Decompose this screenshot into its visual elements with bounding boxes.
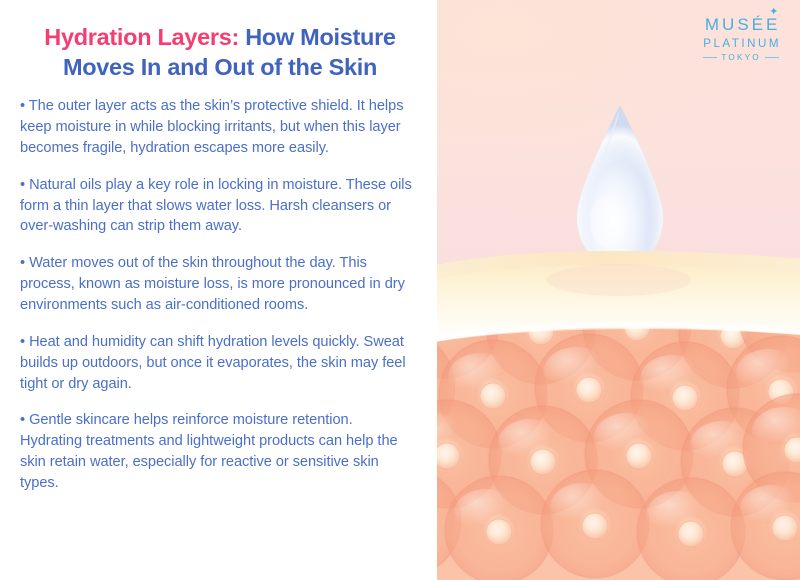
title-accent: Hydration Layers: <box>44 24 239 50</box>
infographic-canvas: ✦ MUSÉE PLATINUM TOKYO Hydration Layers:… <box>0 0 800 580</box>
bullet-paragraph: • The outer layer acts as the skin’s pro… <box>20 96 418 159</box>
logo-tokyo-row: TOKYO <box>701 54 781 62</box>
sparkle-icon: ✦ <box>769 7 778 18</box>
logo-mark: ✦ MUSÉE <box>702 16 780 33</box>
body-copy: • The outer layer acts as the skin’s pro… <box>20 96 420 494</box>
bullet-paragraph: • Gentle skincare helps reinforce moistu… <box>20 410 418 493</box>
logo-musee-text: MUSÉE <box>702 16 780 33</box>
page-title: Hydration Layers: How Moisture Moves In … <box>20 22 420 82</box>
logo-rule-right <box>765 57 779 58</box>
illustration-panel: ✦ MUSÉE PLATINUM TOKYO <box>437 0 800 580</box>
logo-rule-left <box>703 57 717 58</box>
bullet-paragraph: • Water moves out of the skin throughout… <box>20 253 418 316</box>
bullet-paragraph: • Heat and humidity can shift hydration … <box>20 332 418 395</box>
brand-logo: ✦ MUSÉE PLATINUM TOKYO <box>701 16 781 62</box>
text-panel: Hydration Layers: How Moisture Moves In … <box>0 0 437 580</box>
bullet-paragraph: • Natural oils play a key role in lockin… <box>20 175 418 238</box>
skin-surface-layer <box>437 240 800 350</box>
logo-platinum-text: PLATINUM <box>701 38 781 50</box>
logo-tokyo-text: TOKYO <box>721 54 761 62</box>
